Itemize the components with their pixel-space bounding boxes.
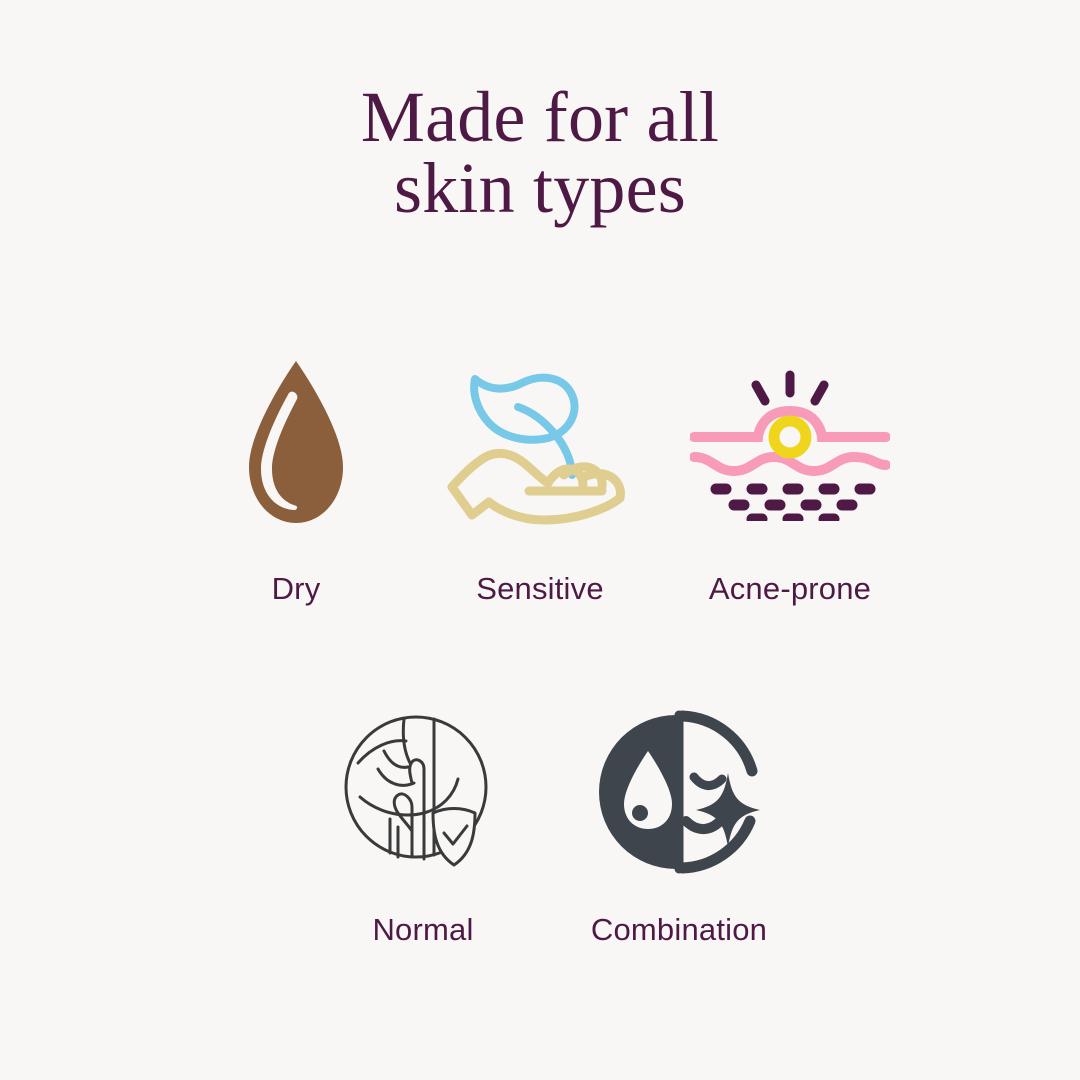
skin-type-item-acne-prone: Acne-prone xyxy=(665,345,915,604)
skin-type-label-combination: Combination xyxy=(591,914,767,945)
skin-type-row-1: Dry xyxy=(165,345,915,604)
split-face-droplet-sparkle-icon xyxy=(596,692,762,892)
skin-type-grid: Dry xyxy=(0,345,1080,945)
skin-type-label-dry: Dry xyxy=(272,573,321,604)
skin-type-item-combination: Combination xyxy=(554,692,804,945)
skin-type-item-dry: Dry xyxy=(171,345,421,604)
leaf-in-hand-icon xyxy=(444,345,636,545)
page-title: Made for all skin types xyxy=(361,82,719,223)
skin-types-infographic: Made for all skin types Dry xyxy=(0,0,1080,1080)
acne-skin-layers-icon xyxy=(690,345,890,545)
page-title-line-1: Made for all xyxy=(361,82,719,153)
skin-type-label-normal: Normal xyxy=(372,914,473,945)
water-droplet-icon xyxy=(231,345,361,545)
skin-type-item-sensitive: Sensitive xyxy=(415,345,665,604)
skin-type-item-normal: Normal xyxy=(298,692,548,945)
face-shield-check-icon xyxy=(338,692,508,892)
skin-type-label-acne-prone: Acne-prone xyxy=(709,573,871,604)
skin-type-label-sensitive: Sensitive xyxy=(476,573,604,604)
skin-type-row-2: Normal xyxy=(290,692,790,945)
page-title-line-2: skin types xyxy=(361,153,719,224)
